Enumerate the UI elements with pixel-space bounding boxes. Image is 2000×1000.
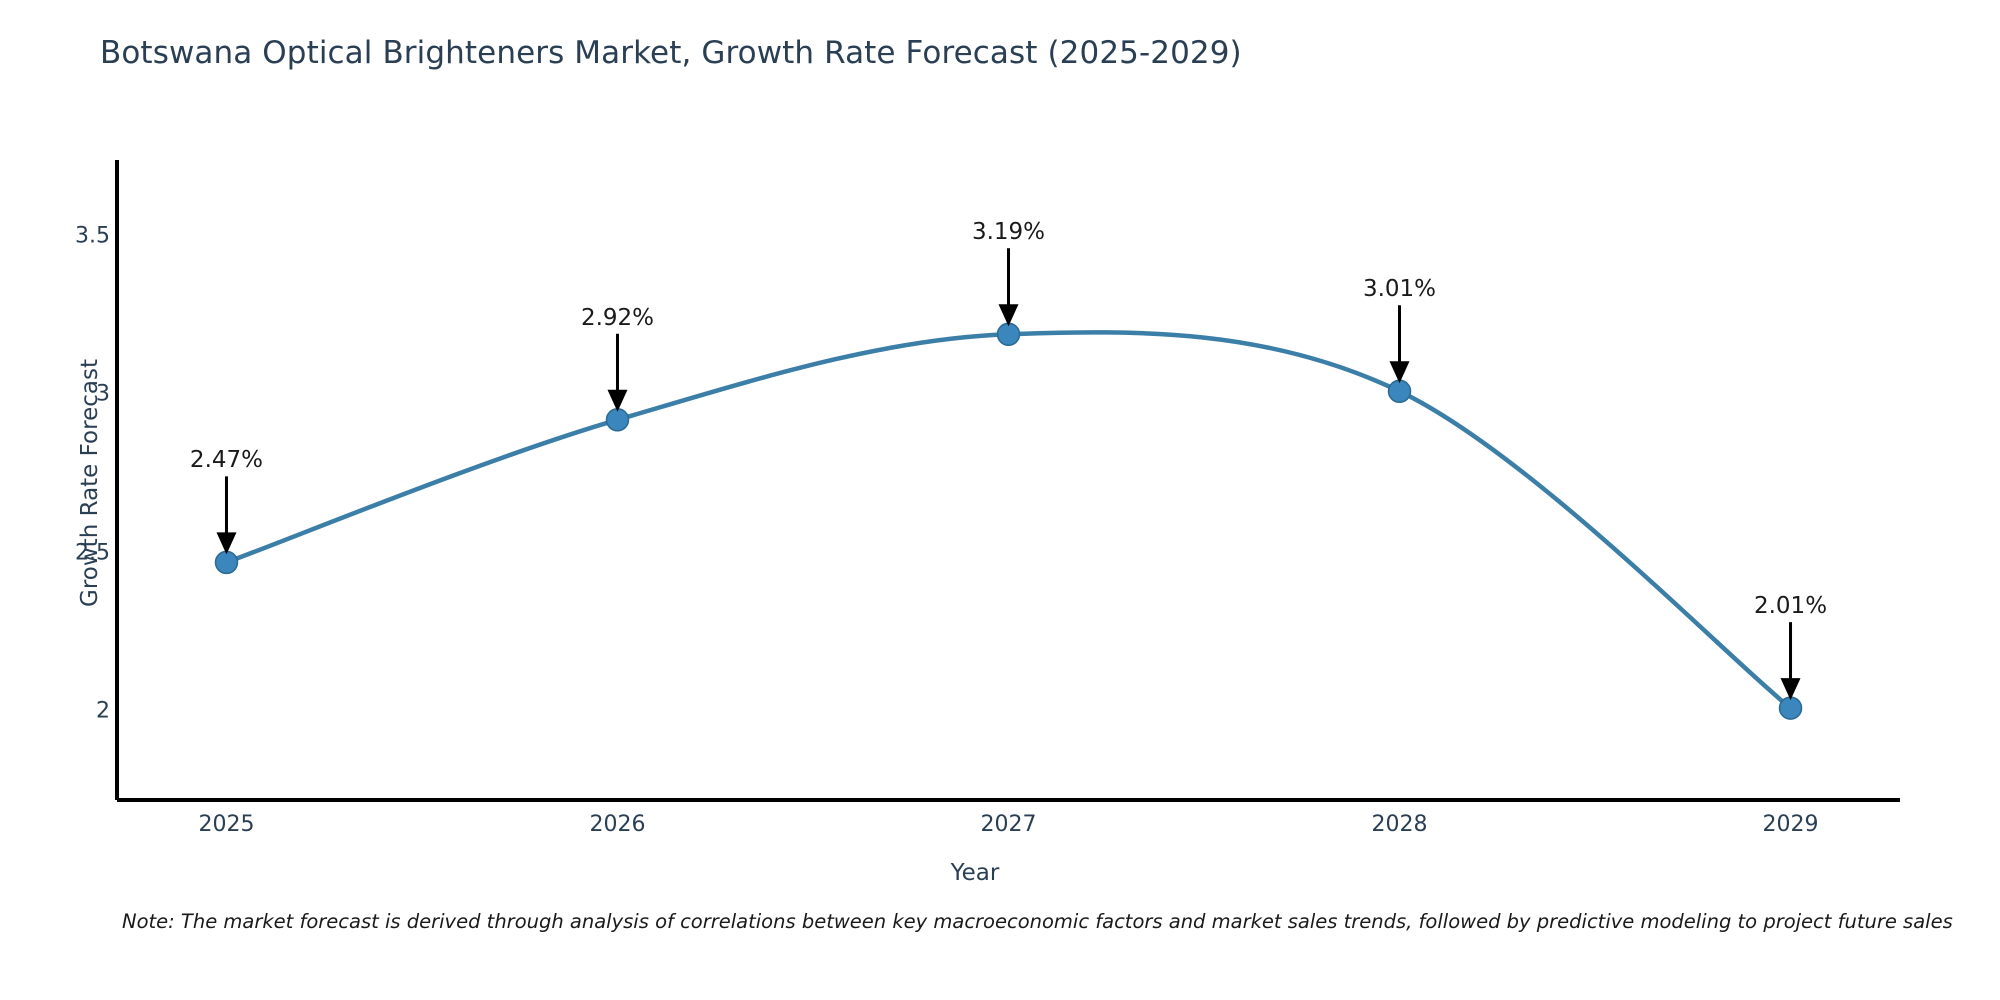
- annotation-arrow-head: [1781, 678, 1801, 700]
- data-point-label: 2.01%: [1754, 593, 1827, 619]
- chart-figure: Botswana Optical Brighteners Market, Gro…: [0, 0, 2000, 1000]
- data-point-marker: [606, 409, 628, 431]
- data-point-marker: [215, 551, 237, 573]
- data-point-markers: [215, 323, 1801, 719]
- data-line-series: [226, 332, 1790, 708]
- data-point-marker: [1780, 697, 1802, 719]
- annotation-arrow-head: [999, 304, 1019, 326]
- footnote-note: Note: The market forecast is derived thr…: [122, 910, 1953, 933]
- annotation-arrow-head: [216, 532, 236, 554]
- plot-area: [0, 0, 2000, 1000]
- data-point-label: 3.01%: [1363, 276, 1436, 302]
- data-point-label: 2.92%: [581, 305, 654, 331]
- annotation-arrow-head: [607, 390, 627, 412]
- data-point-label: 3.19%: [972, 219, 1045, 245]
- data-point-marker: [1389, 380, 1411, 402]
- data-point-label: 2.47%: [190, 447, 263, 473]
- data-point-marker: [998, 323, 1020, 345]
- annotation-arrow-head: [1390, 361, 1410, 383]
